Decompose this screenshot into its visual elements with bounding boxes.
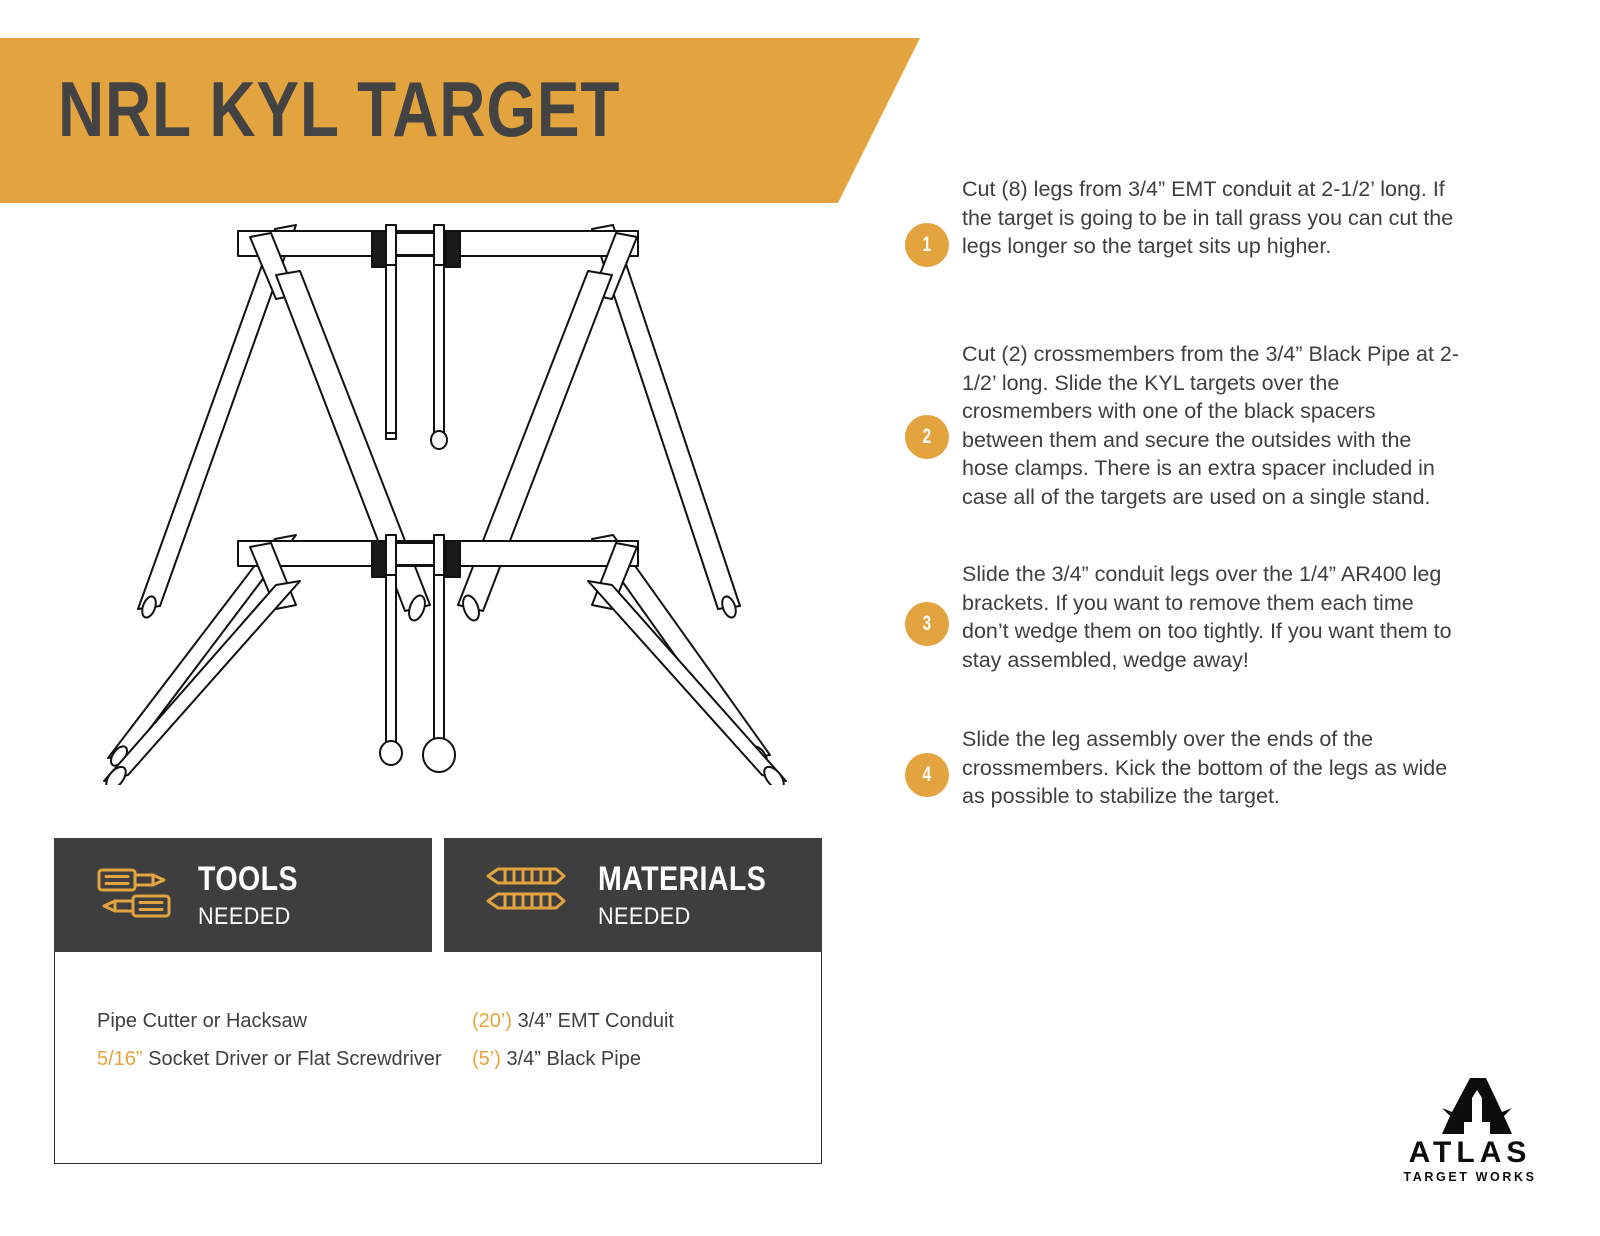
list-item: (20’) 3/4” EMT Conduit (472, 1002, 821, 1040)
screwdrivers-icon (96, 864, 172, 927)
materials-list: (20’) 3/4” EMT Conduit (5’) 3/4” Black P… (444, 1002, 821, 1078)
screws-icon (480, 864, 572, 927)
step-item-2: 2 Cut (2) crossmembers from the 3/4” Bla… (900, 340, 1462, 511)
materials-item-label: 3/4” Black Pipe (506, 1048, 641, 1070)
step-number-badge-4: 4 (905, 753, 949, 797)
tools-list: Pipe Cutter or Hacksaw 5/16” Socket Driv… (55, 1002, 444, 1078)
panel-columns: Pipe Cutter or Hacksaw 5/16” Socket Driv… (55, 952, 821, 1078)
tools-item-label: Pipe Cutter or Hacksaw (97, 1010, 307, 1032)
tools-header-labels: TOOLS NEEDED (198, 862, 317, 929)
tools-item-qty: 5/16” (97, 1048, 143, 1070)
atlas-logo-name: ATLAS (1390, 1138, 1550, 1168)
atlas-logo: ATLAS TARGET WORKS (1390, 1078, 1550, 1184)
list-item: (5’) 3/4” Black Pipe (472, 1040, 821, 1078)
panel-body: Pipe Cutter or Hacksaw 5/16” Socket Driv… (54, 952, 822, 1164)
materials-header-labels: MATERIALS NEEDED (598, 862, 798, 929)
step-text-1: Cut (8) legs from 3/4” EMT conduit at 2-… (962, 175, 1462, 261)
materials-header: MATERIALS NEEDED (444, 838, 822, 952)
tools-title: TOOLS (198, 862, 298, 896)
materials-subtitle: NEEDED (598, 905, 778, 929)
step-number-badge-3: 3 (905, 602, 949, 646)
tools-header: TOOLS NEEDED (54, 838, 432, 952)
step-number-3: 3 (923, 612, 931, 636)
step-number-4: 4 (923, 763, 931, 787)
atlas-logo-subtitle: TARGET WORKS (1390, 1170, 1550, 1184)
materials-item-qty: (20’) (472, 1010, 512, 1032)
step-item-4: 4 Slide the leg assembly over the ends o… (900, 725, 1462, 811)
step-item-3: 3 Slide the 3/4” conduit legs over the 1… (900, 560, 1462, 674)
materials-item-label: 3/4” EMT Conduit (518, 1010, 674, 1032)
step-text-2: Cut (2) crossmembers from the 3/4” Black… (962, 340, 1462, 511)
tools-item-label: Socket Driver or Flat Screwdriver (148, 1048, 441, 1070)
list-item: Pipe Cutter or Hacksaw (97, 1002, 444, 1040)
page-title: NRL KYL TARGET (58, 70, 620, 148)
step-text-4: Slide the leg assembly over the ends of … (962, 725, 1462, 811)
panel-header-divider (432, 838, 444, 952)
materials-item-qty: (5’) (472, 1048, 501, 1070)
step-number-badge-2: 2 (905, 415, 949, 459)
step-number-1: 1 (923, 233, 931, 257)
step-text-3: Slide the 3/4” conduit legs over the 1/4… (962, 560, 1462, 674)
list-item: 5/16” Socket Driver or Flat Screwdriver (97, 1040, 444, 1078)
tools-subtitle: NEEDED (198, 905, 305, 929)
materials-title: MATERIALS (598, 862, 766, 896)
tools-materials-panel: TOOLS NEEDED (54, 838, 822, 1164)
atlas-a-mark (1416, 1078, 1524, 1136)
panel-headers: TOOLS NEEDED (54, 838, 822, 952)
instruction-sheet: NRL KYL TARGET (0, 0, 1600, 1236)
step-number-badge-1: 1 (905, 223, 949, 267)
step-item-1: 1 Cut (8) legs from 3/4” EMT conduit at … (900, 175, 1462, 261)
kyl-target-assembly-diagram (100, 215, 820, 785)
step-number-2: 2 (923, 425, 931, 449)
